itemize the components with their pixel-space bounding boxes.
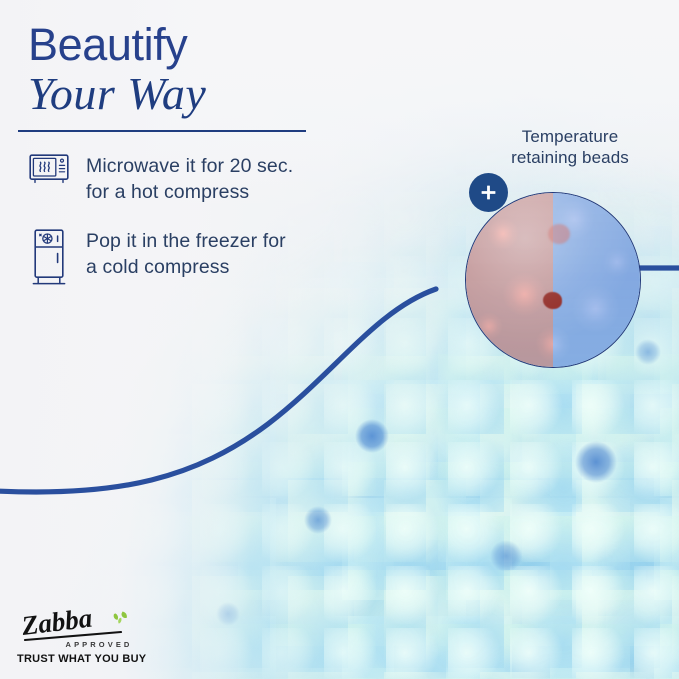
title-line-1: Beautify — [28, 22, 368, 68]
title-divider — [18, 130, 306, 132]
freezer-icon-wrap — [26, 227, 72, 285]
plus-badge[interactable] — [469, 173, 508, 212]
feature-text-microwave: Microwave it for 20 sec. for a hot compr… — [86, 152, 293, 205]
feature-item-freezer: Pop it in the freezer for a cold compres… — [26, 227, 356, 285]
callout-label-line1: Temperature — [470, 126, 670, 147]
feature-microwave-line1: Microwave it for 20 sec. — [86, 153, 293, 179]
feature-list: Microwave it for 20 sec. for a hot compr… — [26, 152, 356, 307]
brand-logo: Zabba APPROVED TRUST WHAT YOU BUY — [17, 609, 159, 665]
page-title: Beautify Your Way — [28, 22, 368, 118]
magnifier-circle — [465, 192, 641, 368]
feature-freezer-line1: Pop it in the freezer for — [86, 228, 286, 254]
microwave-icon — [29, 154, 69, 184]
magnifier-gloss — [466, 193, 640, 367]
logo-mark: Zabba — [17, 609, 159, 643]
logo-tagline: TRUST WHAT YOU BUY — [17, 653, 159, 665]
callout-label-line2: retaining beads — [470, 147, 670, 168]
freezer-icon — [32, 229, 66, 285]
feature-freezer-line2: a cold compress — [86, 254, 286, 280]
feature-text-freezer: Pop it in the freezer for a cold compres… — [86, 227, 286, 280]
plus-icon — [479, 183, 498, 202]
feature-item-microwave: Microwave it for 20 sec. for a hot compr… — [26, 152, 356, 205]
title-line-2: Your Way — [28, 70, 368, 118]
leaf-icon — [114, 612, 127, 624]
zabba-wordmark: Zabba — [17, 609, 159, 643]
feature-microwave-line2: for a hot compress — [86, 179, 293, 205]
callout-label: Temperature retaining beads — [470, 126, 670, 169]
microwave-icon-wrap — [26, 152, 72, 184]
logo-brand-text: Zabba — [19, 609, 94, 641]
infographic-canvas: Temperature retaining beads Beautify You… — [0, 0, 679, 679]
